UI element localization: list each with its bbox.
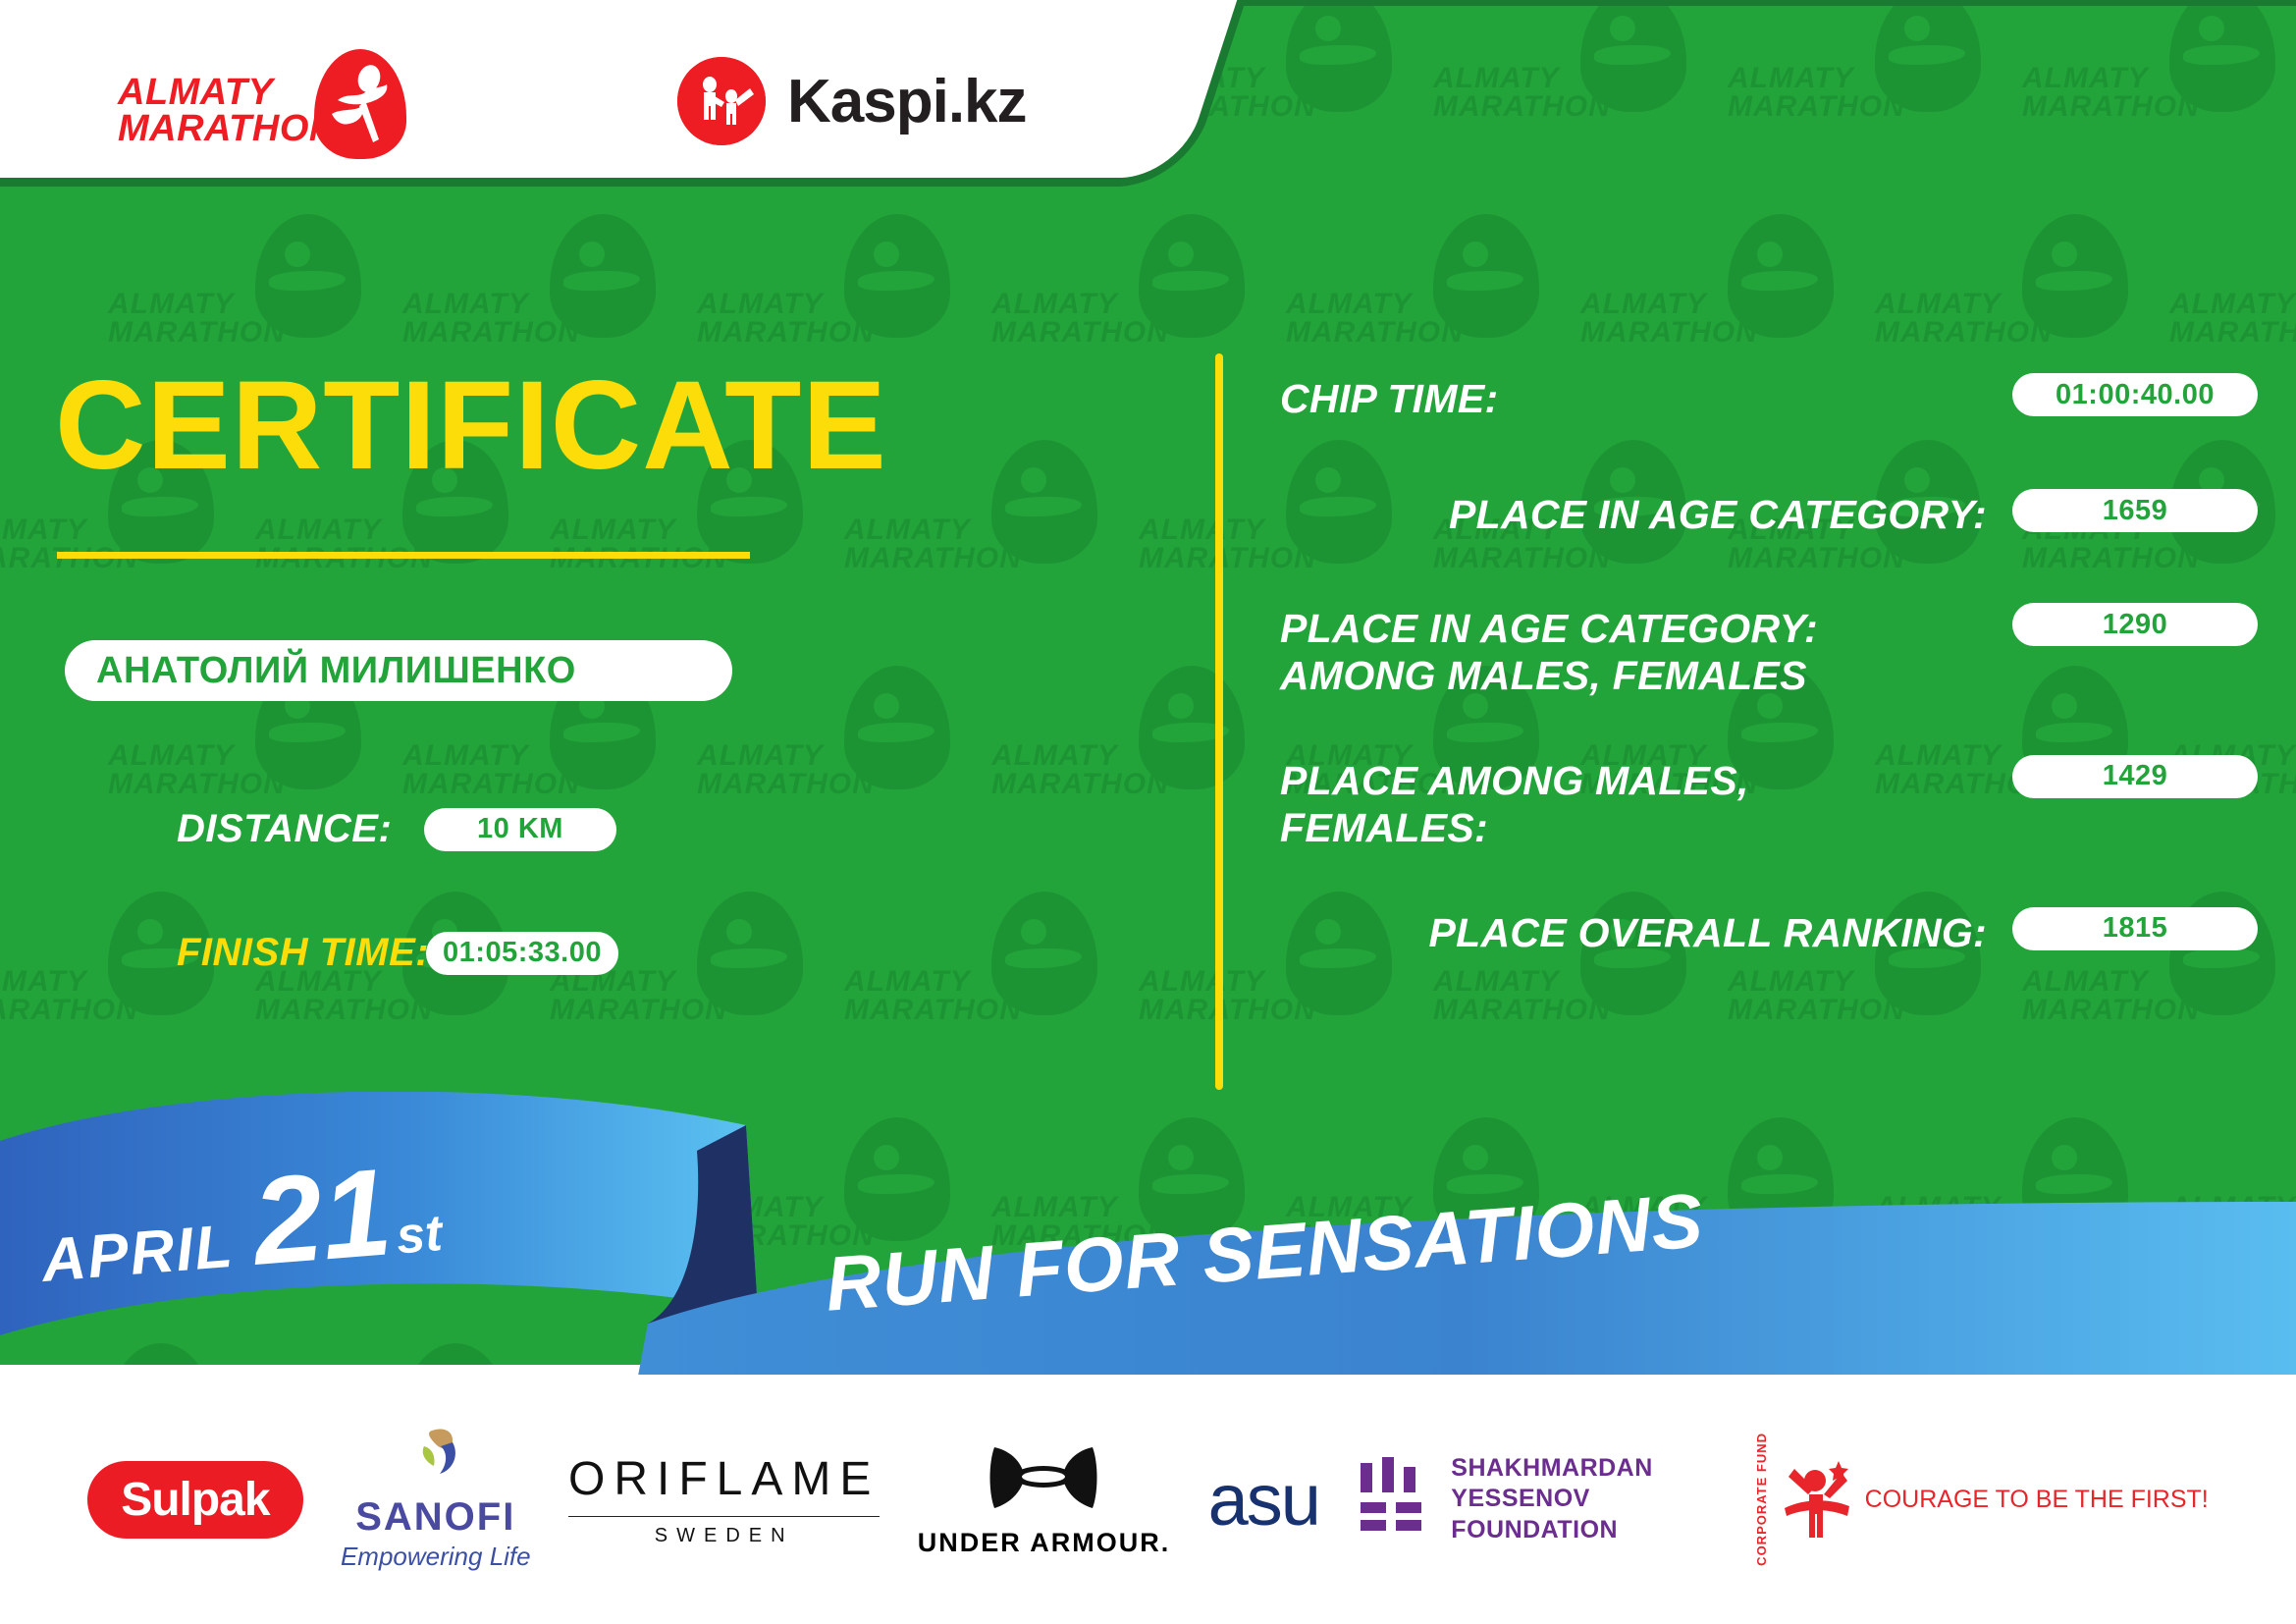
watermark-line-1: ALMATY	[2022, 65, 2187, 93]
watermark-runner-icon	[844, 666, 950, 789]
watermark-line-1: ALMATY	[697, 291, 862, 319]
event-day: 21	[248, 1150, 396, 1284]
watermark-line-2: MARATHON	[402, 771, 567, 799]
finish-time-label: FINISH TIME:	[177, 931, 408, 975]
watermark-runner-icon	[550, 214, 656, 338]
watermark-runner-icon	[1286, 0, 1392, 112]
watermark-line-2: MARATHON	[697, 319, 862, 348]
watermark-line-2: MARATHON	[402, 319, 567, 348]
place-among-gender-label: PLACE AMONG MALES, FEMALES:	[1276, 755, 2012, 852]
watermark-text: ALMATYMARATHON	[550, 968, 715, 1024]
watermark-text: ALMATYMARATHON	[844, 516, 1009, 572]
watermark-runner-icon	[844, 214, 950, 338]
watermark-line-2: MARATHON	[844, 545, 1009, 573]
runner-name-value: АНАТОЛИЙ МИЛИШЕНКО	[65, 650, 576, 692]
watermark-tile: ALMATYMARATHON	[2022, 0, 2296, 206]
place-among-gender-row: PLACE AMONG MALES, FEMALES: 1429	[1276, 755, 2258, 852]
sponsor-oriflame: ORIFLAME SWEDEN	[568, 1452, 880, 1547]
place-among-gender-value: 1429	[2012, 755, 2258, 798]
finish-time-value: 01:05:33.00	[426, 932, 618, 975]
watermark-tile: ALMATYMARATHON	[844, 884, 1139, 1110]
watermark-text: ALMATYMARATHON	[1286, 291, 1451, 347]
watermark-text: ALMATYMARATHON	[2022, 65, 2187, 121]
logo-line-2: MARATHON	[118, 111, 310, 147]
watermark-line-1: ALMATY	[1286, 291, 1451, 319]
event-ribbon: APRIL 21 st RUN FOR SENSATIONS	[0, 1092, 2296, 1416]
watermark-runner-icon	[991, 440, 1097, 564]
watermark-text: ALMATYMARATHON	[1433, 65, 1598, 121]
watermark-runner-icon	[1728, 214, 1834, 338]
certificate-page: ALMATYMARATHONALMATYMARATHONALMATYMARATH…	[0, 0, 2296, 1624]
watermark-tile: ALMATYMARATHON	[844, 432, 1139, 658]
watermark-text: ALMATYMARATHON	[844, 968, 1009, 1024]
sponsor-courage-fund: CORPORATE FUND COURAGE TO BE THE FIRST!	[1754, 1433, 2209, 1566]
watermark-line-1: ALMATY	[550, 516, 715, 545]
watermark-text: ALMATYMARATHON	[108, 742, 273, 798]
watermark-line-2: MARATHON	[0, 997, 126, 1025]
watermark-text: ALMATYMARATHON	[1875, 291, 2040, 347]
place-age-category-row: PLACE IN AGE CATEGORY: 1659	[1276, 489, 2258, 544]
watermark-tile: ALMATYMARATHON	[1728, 0, 2022, 206]
watermark-tile: ALMATYMARATHON	[991, 206, 1286, 432]
watermark-line-2: MARATHON	[1875, 319, 2040, 348]
sanofi-mark-icon	[397, 1427, 475, 1491]
watermark-text: ALMATYMARATHON	[1580, 291, 1745, 347]
chip-time-value: 01:00:40.00	[2012, 373, 2258, 416]
watermark-text: ALMATYMARATHON	[991, 291, 1156, 347]
event-month: APRIL	[39, 1212, 237, 1296]
label-line-2: FEMALES:	[1280, 804, 1987, 851]
label-line-1: PLACE AMONG MALES,	[1280, 757, 1987, 804]
watermark-text: ALMATYMARATHON	[0, 516, 126, 572]
watermark-text: ALMATYMARATHON	[2169, 291, 2296, 347]
label-line-2: AMONG MALES, FEMALES	[1280, 652, 1987, 699]
almaty-marathon-logo: ALMATY MARATHON	[118, 47, 432, 165]
watermark-line-1: ALMATY	[844, 968, 1009, 997]
asu-wordmark: asu	[1208, 1458, 1319, 1542]
sponsor-sanofi: SANOFI Empowering Life	[341, 1427, 531, 1572]
kaspi-wordmark: Kaspi.kz	[787, 67, 1027, 136]
watermark-line-2: MARATHON	[2169, 319, 2296, 348]
sponsor-under-armour: UNDER ARMOUR.	[918, 1441, 1171, 1558]
sponsor-bar: Sulpak SANOFI Empowering Life ORIFLAME S…	[0, 1375, 2296, 1624]
watermark-text: ALMATYMARATHON	[1728, 65, 1893, 121]
watermark-line-2: MARATHON	[2022, 93, 2187, 122]
title-underline	[57, 552, 750, 559]
watermark-text: ALMATYMARATHON	[697, 291, 862, 347]
watermark-text: ALMATYMARATHON	[255, 516, 420, 572]
finish-time-row: FINISH TIME: 01:05:33.00	[177, 931, 618, 975]
watermark-line-1: ALMATY	[2169, 291, 2296, 319]
watermark-line-1: ALMATY	[108, 742, 273, 771]
kaspi-figures-icon	[677, 57, 766, 145]
watermark-runner-icon	[2169, 0, 2275, 112]
watermark-text: ALMATYMARATHON	[550, 516, 715, 572]
watermark-text: ALMATYMARATHON	[697, 742, 862, 798]
watermark-tile: ALMATYMARATHON	[0, 884, 255, 1110]
sponsor-sulpak: Sulpak	[87, 1461, 302, 1539]
watermark-text: ALMATYMARATHON	[402, 291, 567, 347]
header-content: ALMATY MARATHON	[0, 0, 1217, 187]
under-armour-mark-icon	[985, 1441, 1102, 1520]
watermark-text: ALMATYMARATHON	[0, 968, 126, 1024]
runner-figure-icon	[314, 49, 406, 159]
watermark-line-1: ALMATY	[1875, 291, 2040, 319]
watermark-line-1: ALMATY	[1580, 291, 1745, 319]
kaspi-logo: Kaspi.kz	[677, 57, 1027, 145]
place-age-category-gender-row: PLACE IN AGE CATEGORY: AMONG MALES, FEMA…	[1276, 603, 2258, 700]
runner-name-field: АНАТОЛИЙ МИЛИШЕНКО	[65, 640, 732, 701]
watermark-tile: ALMATYMARATHON	[255, 884, 550, 1110]
watermark-line-2: MARATHON	[991, 319, 1156, 348]
watermark-line-1: ALMATY	[697, 742, 862, 771]
watermark-line-1: ALMATY	[402, 291, 567, 319]
watermark-line-1: ALMATY	[255, 516, 420, 545]
watermark-runner-icon	[697, 892, 803, 1015]
chip-time-row: CHIP TIME: 01:00:40.00	[1276, 373, 2258, 428]
yessenov-wordmark: SHAKHMARDAN YESSENOV FOUNDATION	[1451, 1453, 1716, 1545]
under-armour-wordmark: UNDER ARMOUR.	[918, 1528, 1171, 1558]
vertical-divider	[1215, 353, 1223, 1090]
sanofi-tagline: Empowering Life	[341, 1542, 531, 1572]
watermark-runner-icon	[2022, 214, 2128, 338]
watermark-text: ALMATYMARATHON	[108, 291, 273, 347]
watermark-runner-icon	[991, 892, 1097, 1015]
page-title: CERTIFICATE	[55, 363, 887, 489]
watermark-line-2: MARATHON	[255, 997, 420, 1025]
distance-label: DISTANCE:	[177, 807, 373, 851]
watermark-tile: ALMATYMARATHON	[550, 884, 844, 1110]
distance-value: 10 KM	[424, 808, 616, 851]
watermark-tile: ALMATYMARATHON	[1433, 0, 1728, 206]
oriflame-subtitle: SWEDEN	[568, 1516, 880, 1547]
sponsor-yessenov-foundation: SHAKHMARDAN YESSENOV FOUNDATION	[1357, 1453, 1716, 1545]
label-line-1: PLACE IN AGE CATEGORY:	[1280, 605, 1987, 652]
watermark-runner-icon	[1433, 214, 1539, 338]
watermark-line-1: ALMATY	[1728, 65, 1893, 93]
place-overall-label: PLACE OVERALL RANKING:	[1276, 907, 2012, 956]
place-age-category-gender-label: PLACE IN AGE CATEGORY: AMONG MALES, FEMA…	[1276, 603, 2012, 700]
watermark-runner-icon	[255, 214, 361, 338]
oriflame-wordmark: ORIFLAME	[568, 1452, 880, 1506]
place-age-category-label: PLACE IN AGE CATEGORY:	[1276, 489, 2012, 538]
watermark-line-2: MARATHON	[1728, 93, 1893, 122]
watermark-line-1: ALMATY	[402, 742, 567, 771]
watermark-line-1: ALMATY	[0, 516, 126, 545]
place-overall-value: 1815	[2012, 907, 2258, 950]
chip-time-label: CHIP TIME:	[1276, 373, 2012, 422]
event-day-ordinal: st	[395, 1204, 445, 1266]
logo-line-1: ALMATY	[118, 75, 310, 111]
almaty-marathon-wordmark: ALMATY MARATHON	[118, 75, 310, 147]
watermark-tile: ALMATYMARATHON	[697, 658, 991, 884]
results-panel: CHIP TIME: 01:00:40.00 PLACE IN AGE CATE…	[1276, 373, 2258, 1013]
watermark-tile: ALMATYMARATHON	[991, 658, 1286, 884]
watermark-runner-icon	[1139, 214, 1245, 338]
watermark-line-1: ALMATY	[108, 291, 273, 319]
sanofi-wordmark: SANOFI	[341, 1495, 531, 1540]
sponsor-asu: asu	[1208, 1458, 1319, 1542]
watermark-runner-icon	[1580, 0, 1686, 112]
watermark-text: ALMATYMARATHON	[402, 742, 567, 798]
watermark-runner-icon	[1875, 0, 1981, 112]
watermark-line-2: MARATHON	[550, 997, 715, 1025]
watermark-text: ALMATYMARATHON	[991, 742, 1156, 798]
courage-fund-wordmark: COURAGE TO BE THE FIRST!	[1865, 1485, 2209, 1515]
watermark-line-2: MARATHON	[697, 771, 862, 799]
watermark-line-2: MARATHON	[991, 771, 1156, 799]
kaspi-people-icon	[677, 57, 766, 145]
place-overall-row: PLACE OVERALL RANKING: 1815	[1276, 907, 2258, 962]
watermark-line-2: MARATHON	[108, 319, 273, 348]
watermark-line-1: ALMATY	[991, 291, 1156, 319]
watermark-line-2: MARATHON	[1433, 93, 1598, 122]
watermark-runner-icon	[1139, 666, 1245, 789]
watermark-line-2: MARATHON	[108, 771, 273, 799]
sulpak-logo: Sulpak	[87, 1461, 302, 1539]
distance-row: DISTANCE: 10 KM	[177, 807, 616, 851]
place-age-category-gender-value: 1290	[2012, 603, 2258, 646]
courage-fund-label: CORPORATE FUND	[1754, 1433, 1769, 1566]
watermark-text: ALMATYMARATHON	[255, 968, 420, 1024]
place-age-category-value: 1659	[2012, 489, 2258, 532]
watermark-line-1: ALMATY	[0, 968, 126, 997]
watermark-line-1: ALMATY	[1433, 65, 1598, 93]
watermark-line-2: MARATHON	[1286, 319, 1451, 348]
courage-figure-icon	[1783, 1455, 1851, 1543]
watermark-line-1: ALMATY	[844, 516, 1009, 545]
watermark-line-2: MARATHON	[844, 997, 1009, 1025]
runner-drop-icon	[314, 49, 406, 159]
yessenov-mark-icon	[1357, 1457, 1429, 1542]
watermark-line-2: MARATHON	[1580, 319, 1745, 348]
watermark-line-1: ALMATY	[991, 742, 1156, 771]
